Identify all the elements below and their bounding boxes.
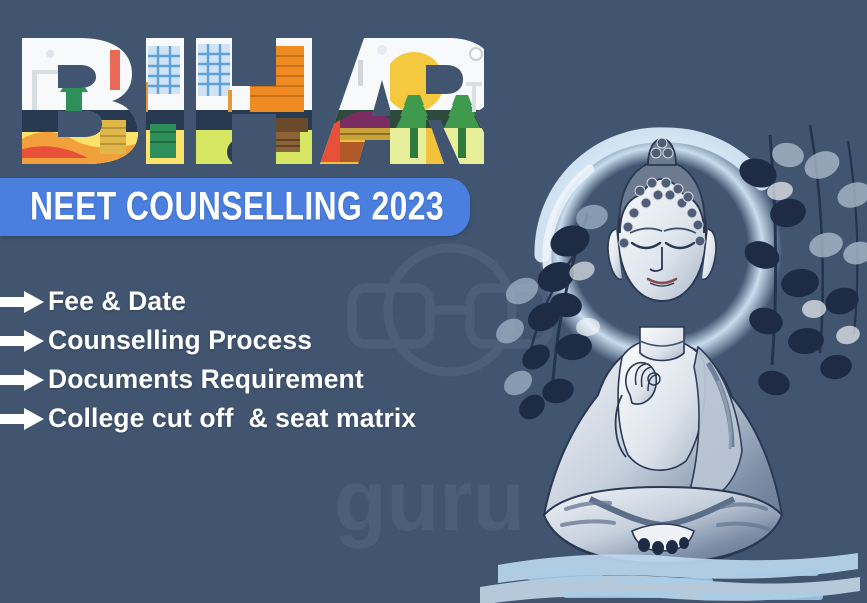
- water-base: [480, 553, 860, 603]
- bullet-label: Counselling Process: [48, 325, 312, 356]
- banner-title: NEET COUNSELLING 2023: [30, 185, 444, 230]
- arrow-right-icon: [0, 291, 44, 313]
- list-item: Counselling Process: [0, 321, 520, 360]
- bullet-label: Fee & Date: [48, 286, 186, 317]
- arrow-right-icon: [0, 408, 44, 430]
- list-item: Documents Requirement: [0, 360, 520, 399]
- wordmark-letter-h: [189, 32, 319, 167]
- list-item: College cut off & seat matrix: [0, 399, 520, 438]
- arrow-right-icon: [0, 369, 44, 391]
- bullet-label: College cut off & seat matrix: [48, 403, 416, 434]
- bihar-wordmark: [14, 32, 484, 167]
- poster-canvas: guru: [0, 0, 867, 603]
- buddha-body: [544, 327, 782, 565]
- bullet-list: Fee & Date Counselling Process Documents…: [0, 282, 520, 438]
- arrow-right-icon: [0, 330, 44, 352]
- list-item: Fee & Date: [0, 282, 520, 321]
- neet-counselling-banner: NEET COUNSELLING 2023: [0, 178, 470, 236]
- bullet-label: Documents Requirement: [48, 364, 364, 395]
- bodhi-branch-right: [736, 125, 867, 399]
- wordmark-letter-i: [139, 32, 194, 167]
- seated-buddha-illustration: [470, 95, 867, 603]
- wordmark-letter-b: [14, 32, 144, 167]
